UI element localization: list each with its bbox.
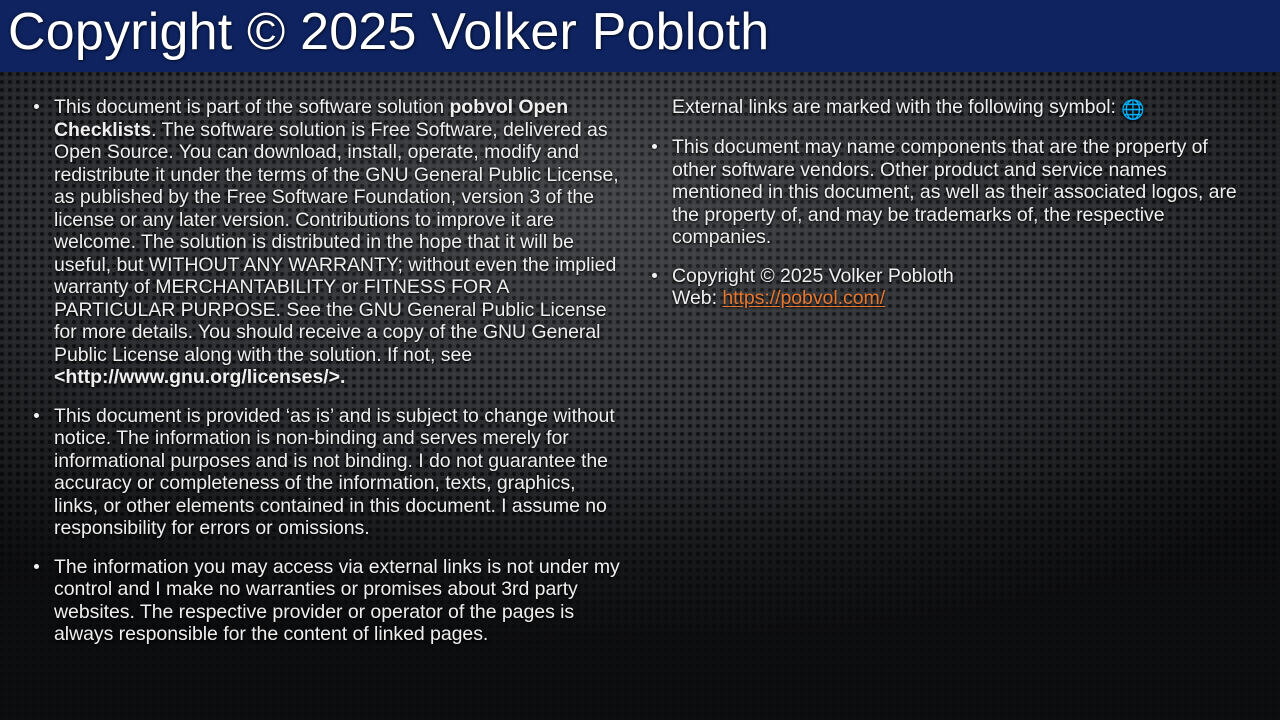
emphasis-text: <http://www.gnu.org/licenses/>. [54,366,345,388]
right-bullet-list: External links are marked with the follo… [644,96,1250,310]
body-text: External links are marked with the follo… [672,96,1121,118]
slide-content: This document is part of the software so… [0,72,1280,720]
external-links-bullet: The information you may access via exter… [26,556,622,646]
body-text: . The software solution is Free Software… [54,119,619,366]
slide-root: Copyright © 2025 Volker Pobloth This doc… [0,0,1280,720]
website-link[interactable]: https://pobvol.com/ [722,287,885,309]
body-text: This document is part of the software so… [54,96,449,118]
body-text: The information you may access via exter… [54,556,620,646]
body-text: Copyright © 2025 Volker Pobloth [672,265,954,287]
trademark-bullet: This document may name components that a… [644,136,1250,249]
external-link-globe-icon: 🌐 [1121,101,1145,120]
body-text: This document is provided ‘as is’ and is… [54,405,615,540]
body-text: This document may name components that a… [672,136,1237,248]
copyright-bullet: Copyright © 2025 Volker PoblothWeb: http… [644,265,1250,310]
license-bullet: This document is part of the software so… [26,96,622,389]
title-bar: Copyright © 2025 Volker Pobloth [0,0,1280,72]
left-column: This document is part of the software so… [0,72,640,720]
page-title: Copyright © 2025 Volker Pobloth [8,0,769,68]
right-column: External links are marked with the follo… [640,72,1280,720]
left-bullet-list: This document is part of the software so… [26,96,622,646]
as-is-bullet: This document is provided ‘as is’ and is… [26,405,622,540]
body-text: Web: [672,287,722,309]
symbol-note: External links are marked with the follo… [644,96,1250,120]
